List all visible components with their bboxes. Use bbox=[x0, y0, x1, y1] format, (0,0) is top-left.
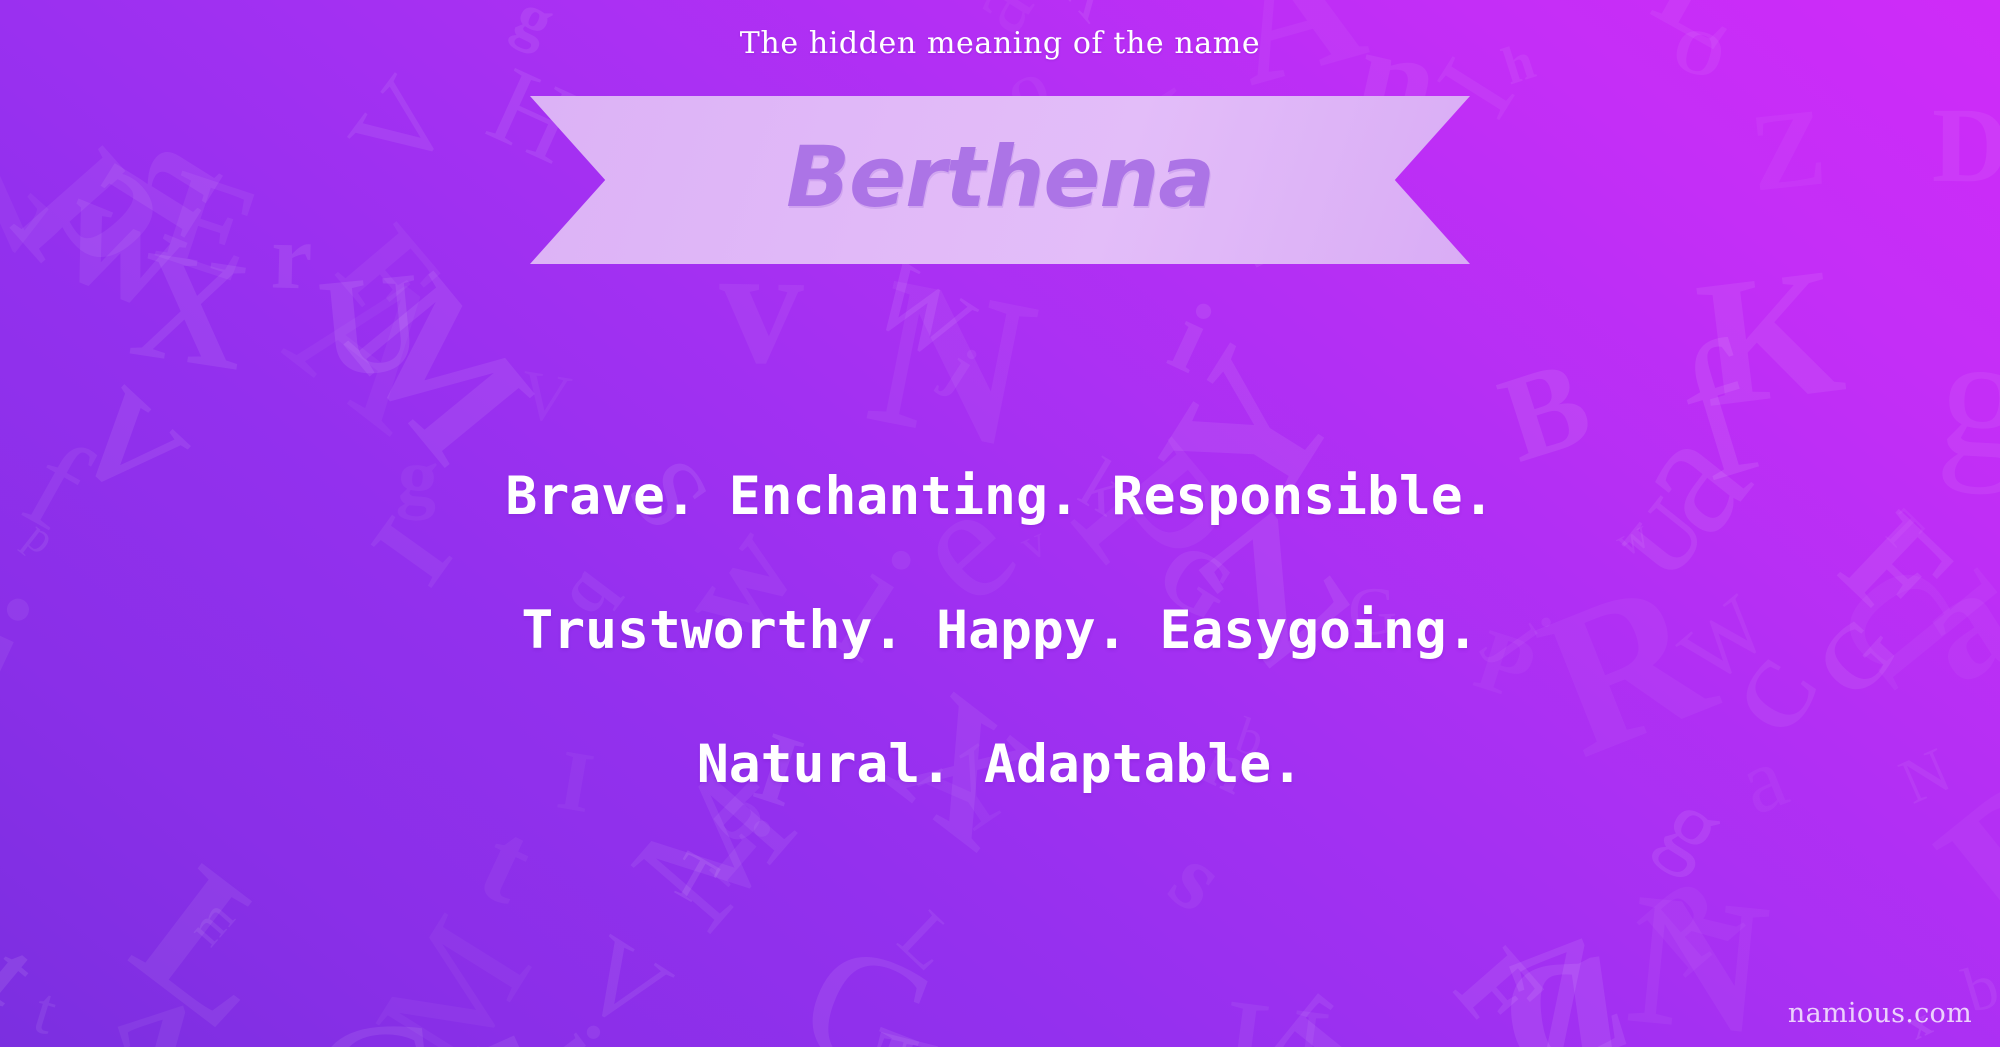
background-letter: p bbox=[14, 98, 221, 298]
background-letter: h bbox=[81, 111, 243, 253]
background-letter: A bbox=[259, 222, 491, 464]
background-letter: h bbox=[472, 990, 624, 1047]
background-letter: R bbox=[1622, 855, 1758, 994]
background-letter: G bbox=[781, 912, 958, 1047]
background-letter: w bbox=[39, 141, 211, 339]
background-letter: t bbox=[0, 927, 52, 1020]
background-letter: j bbox=[935, 337, 986, 400]
trait-list: Brave. Enchanting. Responsible. Trustwor… bbox=[0, 430, 2000, 832]
background-letter: E bbox=[145, 147, 274, 305]
background-letter: s bbox=[1155, 829, 1240, 928]
background-letter: U bbox=[313, 250, 428, 400]
background-letter: T bbox=[859, 1015, 944, 1047]
page-title: The hidden meaning of the name bbox=[0, 26, 2000, 61]
background-letter: F bbox=[1437, 932, 1562, 1047]
background-letter: i bbox=[530, 1012, 615, 1047]
background-letter: V bbox=[561, 916, 687, 1047]
background-letter: i bbox=[1157, 286, 1225, 389]
trait-line: Trustworthy. Happy. Easygoing. bbox=[0, 564, 2000, 698]
name-meaning-card: qqWKXTafRfLOaLsAiAZtZMGZbYVVtZggQmGTPAPN… bbox=[0, 0, 2000, 1047]
background-letter: Y bbox=[0, 372, 6, 434]
background-letter: D bbox=[1932, 93, 2000, 200]
background-letter: V bbox=[515, 359, 576, 435]
background-letter: M bbox=[349, 894, 556, 1047]
background-letter: L bbox=[886, 899, 970, 984]
background-letter: t bbox=[27, 977, 65, 1047]
background-letter: V bbox=[330, 59, 472, 194]
name-ribbon-banner: Berthena bbox=[530, 96, 1470, 264]
background-letter: z bbox=[0, 133, 70, 270]
background-letter: X bbox=[123, 224, 258, 395]
background-letter: z bbox=[575, 1042, 630, 1047]
name-text: Berthena bbox=[530, 96, 1470, 264]
background-letter: Z bbox=[1485, 904, 1648, 1047]
background-letter: C bbox=[301, 988, 448, 1047]
background-letter: T bbox=[1258, 980, 1391, 1047]
background-letter: N bbox=[1621, 863, 1775, 1047]
watermark-label: namious.com bbox=[1788, 998, 1972, 1029]
background-letter: Z bbox=[1745, 91, 1830, 209]
background-letter: T bbox=[659, 840, 727, 917]
background-letter: Z bbox=[100, 979, 228, 1047]
background-letter: F bbox=[316, 206, 461, 345]
background-letter: U bbox=[1213, 977, 1335, 1047]
trait-line: Natural. Adaptable. bbox=[0, 698, 2000, 832]
background-letter: K bbox=[1689, 240, 1851, 437]
background-letter: m bbox=[180, 892, 245, 955]
background-letter: L bbox=[106, 834, 319, 1047]
background-letter: q bbox=[1486, 882, 1630, 1047]
background-letter: r bbox=[270, 211, 313, 305]
background-letter: v bbox=[1276, 1043, 1460, 1047]
trait-line: Brave. Enchanting. Responsible. bbox=[0, 430, 2000, 564]
background-letter: c bbox=[1640, 1013, 1778, 1047]
